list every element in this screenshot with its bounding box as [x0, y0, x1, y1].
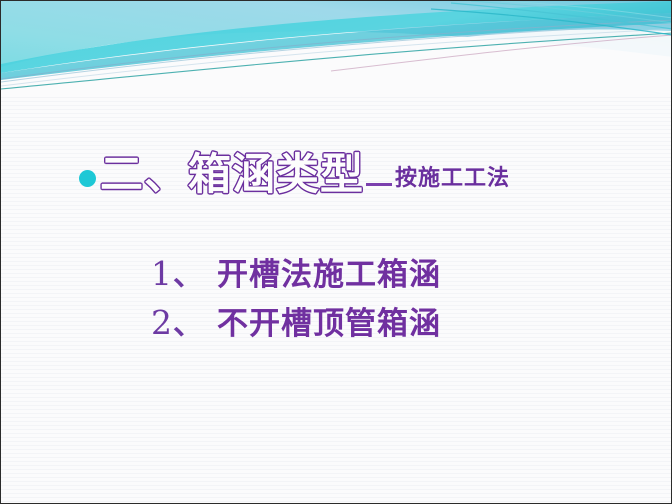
- slide-content: 二、箱涵类型 按施工工法 1 、 开槽法施工箱涵 2 、 不开槽顶管箱涵: [1, 1, 671, 503]
- list-item-label: 开槽法施工箱涵: [217, 249, 441, 294]
- list-item-label: 不开槽顶管箱涵: [217, 298, 441, 343]
- list-item: 2 、 不开槽顶管箱涵: [151, 298, 441, 343]
- body-list: 1 、 开槽法施工箱涵 2 、 不开槽顶管箱涵: [151, 249, 441, 347]
- list-item: 1 、 开槽法施工箱涵: [151, 249, 441, 294]
- title-main-text: 二、箱涵类型: [100, 153, 364, 198]
- list-item-number: 1: [151, 254, 172, 293]
- slide-title: 二、箱涵类型 按施工工法: [79, 153, 510, 198]
- title-subtitle-text: 按施工工法: [395, 160, 510, 192]
- list-item-number: 2: [151, 303, 172, 342]
- list-item-mark: 、: [173, 250, 203, 294]
- bullet-dot-icon: [79, 170, 96, 187]
- presentation-slide: 二、箱涵类型 按施工工法 1 、 开槽法施工箱涵 2 、 不开槽顶管箱涵: [0, 0, 672, 504]
- list-item-mark: 、: [173, 299, 203, 343]
- title-separator-dash: [366, 183, 392, 186]
